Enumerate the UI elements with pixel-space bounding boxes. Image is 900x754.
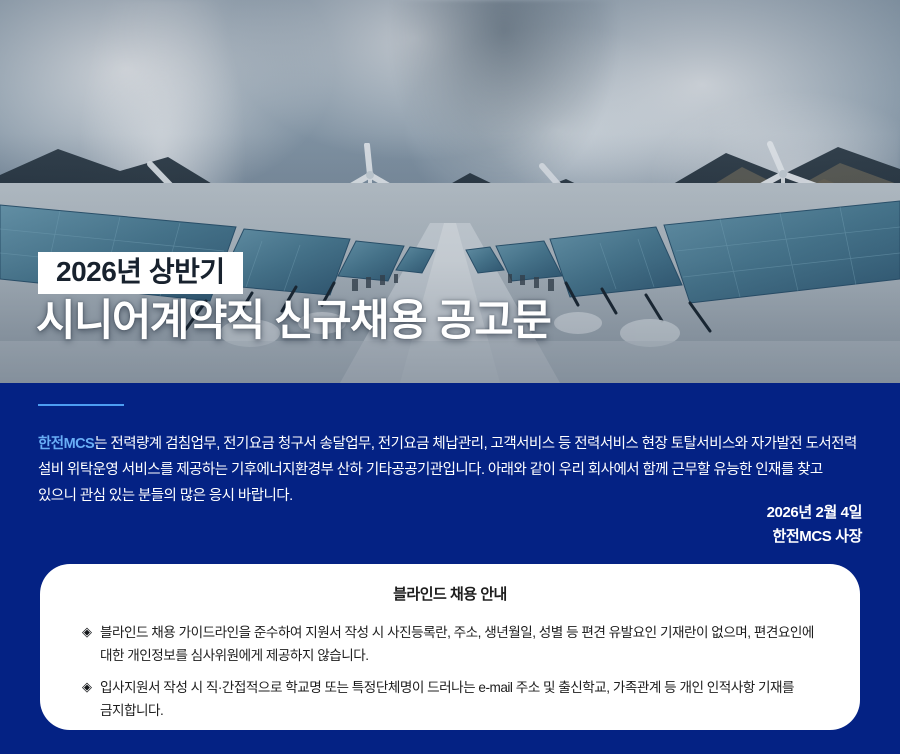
page-title: 시니어계약직 신규채용 공고문 [36,297,550,345]
notice-text: 블라인드 채용 가이드라인을 준수하여 지원서 작성 시 사진등록란, 주소, … [100,621,830,667]
kicker-badge: 2026년 상반기 [38,252,243,294]
company-name: 한전MCS [38,436,94,452]
recruitment-poster: 2026년 상반기 시니어계약직 신규채용 공고문 한전MCS는 전력량계 검침… [0,0,900,754]
notice-text: 입사지원서 작성 시 직·간접적으로 학교명 또는 특정단체명이 드러나는 e-… [100,676,830,722]
notice-item: ◈ 블라인드 채용 가이드라인을 준수하여 지원서 작성 시 사진등록란, 주소… [70,621,830,667]
diamond-bullet-icon: ◈ [82,676,92,698]
signer-title: 한전MCS 사장 [767,525,862,549]
diamond-bullet-icon: ◈ [82,621,92,643]
intro-paragraph: 한전MCS는 전력량계 검침업무, 전기요금 청구서 송달업무, 전기요금 체납… [38,431,864,510]
announcement-date: 2026년 2월 4일 [767,501,862,525]
accent-rule [38,404,124,406]
notice-item: ◈ 입사지원서 작성 시 직·간접적으로 학교명 또는 특정단체명이 드러나는 … [70,676,830,722]
signature-block: 2026년 2월 4일 한전MCS 사장 [767,501,862,550]
intro-body-text: 는 전력량계 검침업무, 전기요금 청구서 송달업무, 전기요금 체납관리, 고… [38,436,857,505]
card-title: 블라인드 채용 안내 [70,583,830,604]
blind-hiring-card: 블라인드 채용 안내 ◈ 블라인드 채용 가이드라인을 준수하여 지원서 작성 … [40,564,860,730]
